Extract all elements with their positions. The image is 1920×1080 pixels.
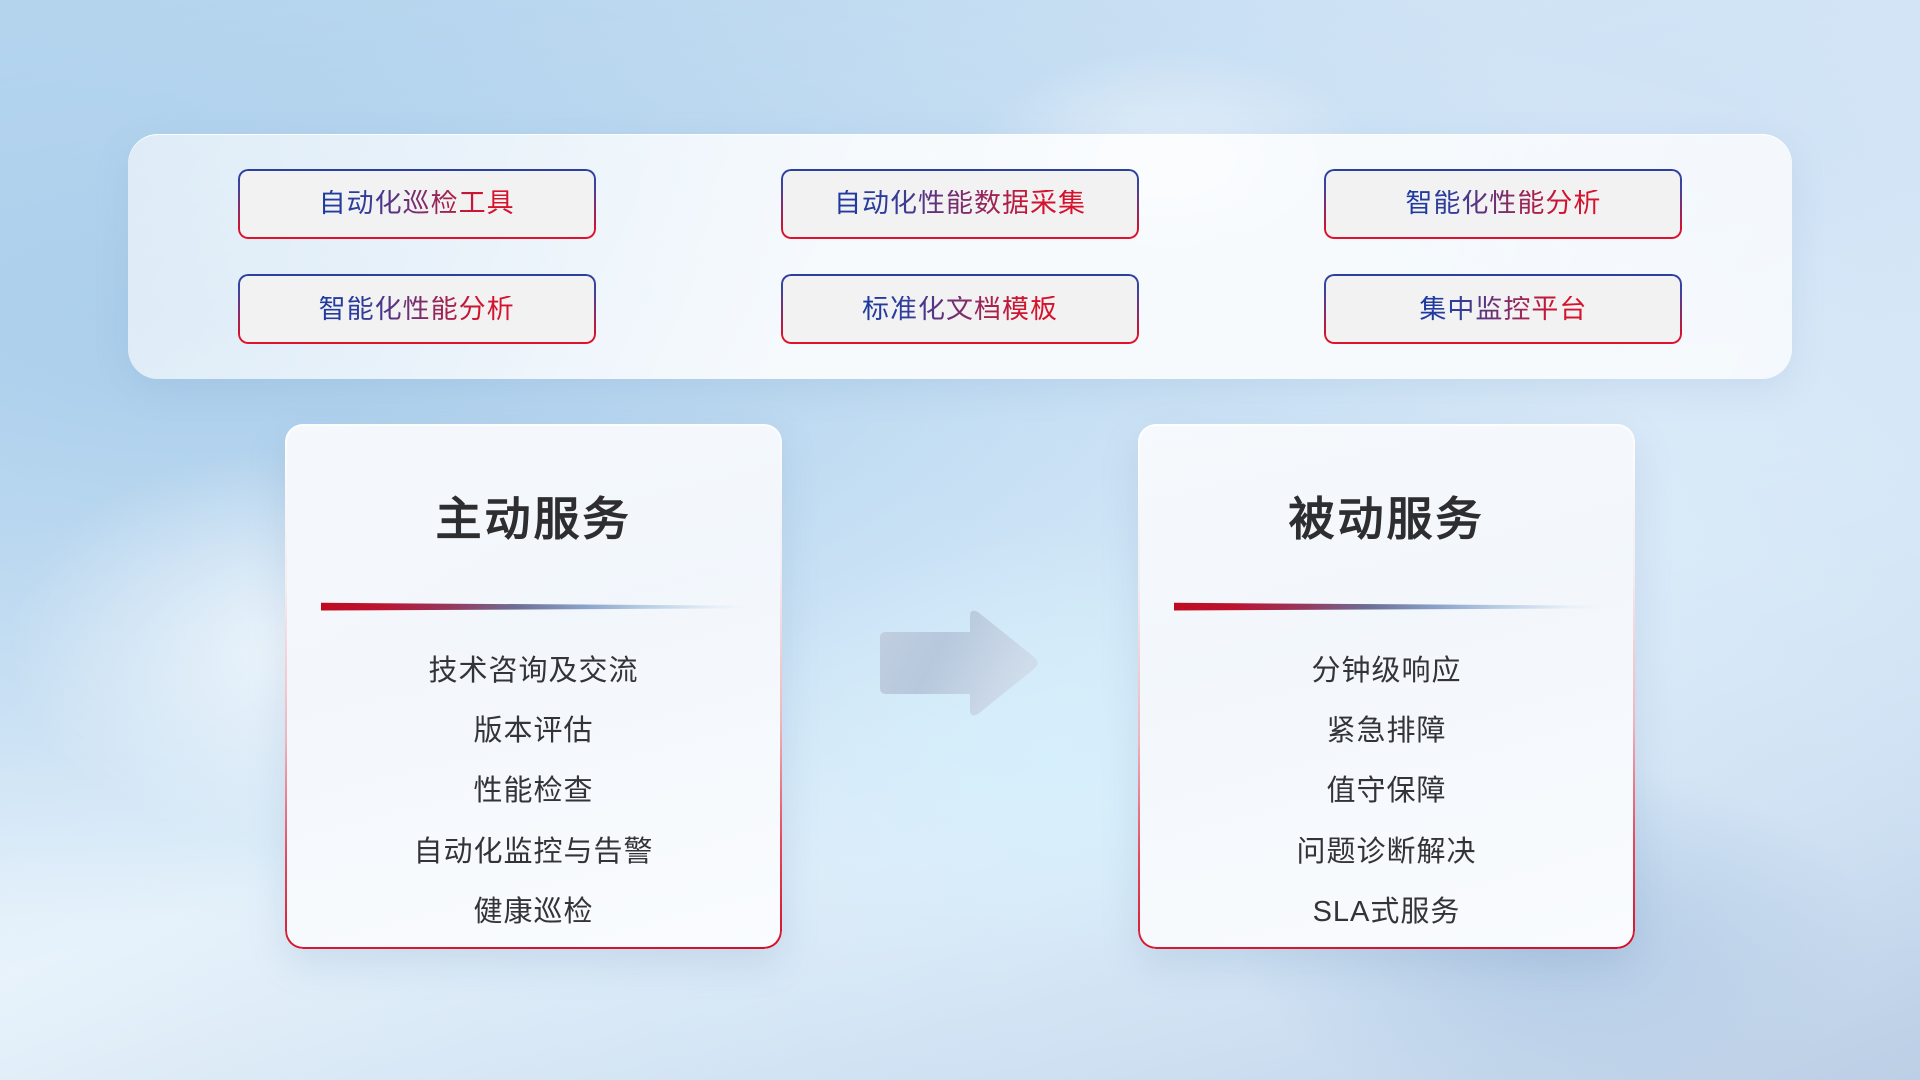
capability-panel: 自动化巡检工具 自动化性能数据采集 智能化性能分析 智能化性能分析 标准化文档模… [128,134,1792,379]
list-item: 自动化监控与告警 [413,836,653,869]
capability-pill-label: 自动化巡检工具 [319,190,515,217]
list-item: 值守保障 [1326,775,1446,808]
capability-pill-label: 集中监控平台 [1419,296,1587,323]
service-card-passive-title: 被动服务 [1289,492,1485,547]
list-item: 健康巡检 [473,896,593,929]
capability-pill-5[interactable]: 标准化文档模板 [781,274,1139,344]
list-item: 紧急排障 [1326,715,1446,748]
service-card-passive-list: 分钟级响应 紧急排障 值守保障 问题诊断解决 SLA式服务 [1138,655,1635,930]
capability-pill-6[interactable]: 集中监控平台 [1324,274,1682,344]
capability-pill-3[interactable]: 智能化性能分析 [1324,169,1682,239]
service-card-active-list: 技术咨询及交流 版本评估 性能检查 自动化监控与告警 健康巡检 [285,655,782,930]
service-card-passive: 被动服务 分钟级响应 紧急排障 值守保障 问题诊断解决 SLA式服务 [1138,424,1635,949]
capability-pill-1[interactable]: 自动化巡检工具 [238,169,596,239]
capability-pill-label: 标准化文档模板 [862,296,1058,323]
service-card-active-title: 主动服务 [436,492,632,547]
list-item: 性能检查 [473,775,593,808]
service-card-active-divider [321,602,747,611]
list-item: 问题诊断解决 [1296,836,1476,869]
service-card-passive-divider [1174,602,1600,611]
capability-pill-4[interactable]: 智能化性能分析 [238,274,596,344]
capability-pill-label: 智能化性能分析 [319,296,515,323]
service-card-active: 主动服务 技术咨询及交流 版本评估 性能检查 自动化监控与告警 健康巡检 [285,424,782,949]
list-item: SLA式服务 [1313,896,1461,929]
capability-pill-label: 智能化性能分析 [1405,190,1601,217]
infographic-stage: 自动化巡检工具 自动化性能数据采集 智能化性能分析 智能化性能分析 标准化文档模… [0,0,1920,1080]
list-item: 分钟级响应 [1311,655,1461,688]
list-item: 版本评估 [473,715,593,748]
list-item: 技术咨询及交流 [428,655,638,688]
capability-pill-2[interactable]: 自动化性能数据采集 [781,169,1139,239]
capability-pill-label: 自动化性能数据采集 [834,190,1086,217]
arrow-right-icon [874,608,1042,718]
